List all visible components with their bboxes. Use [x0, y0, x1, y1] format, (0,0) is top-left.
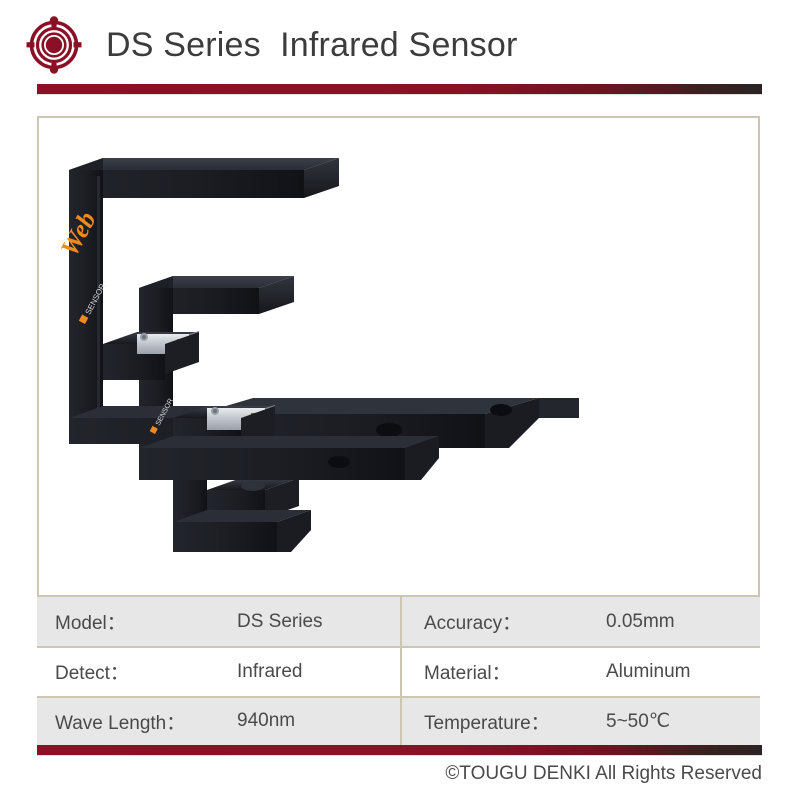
spec-cell-model: Model： DS Series	[37, 597, 400, 646]
spec-label: Accuracy：	[424, 608, 606, 635]
fork-sensor-medium-lower-arm	[139, 436, 439, 480]
spec-cell-detect: Detect： Infrared	[37, 648, 400, 695]
spec-cell-wave-length: Wave Length： 940nm	[37, 698, 400, 745]
company-logo	[26, 16, 82, 74]
page-header: DS Series Infrared Sensor	[0, 0, 800, 86]
spec-label: Model：	[55, 608, 237, 635]
spec-label: Detect：	[55, 658, 237, 685]
spec-value: 5~50℃	[606, 710, 670, 733]
table-row: Model： DS Series Accuracy： 0.05mm	[37, 597, 760, 646]
table-row: Wave Length： 940nm Temperature： 5~50℃	[37, 696, 760, 745]
spec-value: DS Series	[237, 611, 323, 633]
spec-cell-temperature: Temperature： 5~50℃	[400, 698, 760, 745]
spec-value: 0.05mm	[606, 611, 675, 633]
table-row: Detect： Infrared Material： Aluminum	[37, 646, 760, 695]
spec-value: Aluminum	[606, 661, 690, 683]
footer-accent-bar	[37, 745, 762, 755]
spec-cell-material: Material： Aluminum	[400, 648, 760, 695]
concentric-target-icon	[26, 16, 82, 74]
spec-label: Temperature：	[424, 708, 606, 735]
header-accent-bar	[37, 84, 762, 94]
fork-sensor-illustration: Web SENSOR Web SENSOR	[39, 118, 758, 595]
spec-label: Wave Length：	[55, 708, 237, 735]
spec-label: Material：	[424, 658, 606, 685]
product-image-frame: Web SENSOR Web SENSOR	[37, 116, 760, 597]
sensor-head-upper	[103, 331, 199, 380]
product-photo: Web SENSOR Web SENSOR	[39, 118, 758, 595]
spec-value: 940nm	[237, 710, 295, 732]
copyright-text: ©TOUGU DENKI All Rights Reserved	[445, 763, 762, 785]
page-title: DS Series Infrared Sensor	[106, 26, 518, 65]
fork-sensor-small-lower-arm	[173, 510, 311, 552]
spec-value: Infrared	[237, 661, 302, 683]
spec-cell-accuracy: Accuracy： 0.05mm	[400, 597, 760, 646]
specification-table: Model： DS Series Accuracy： 0.05mm Detect…	[37, 597, 760, 745]
